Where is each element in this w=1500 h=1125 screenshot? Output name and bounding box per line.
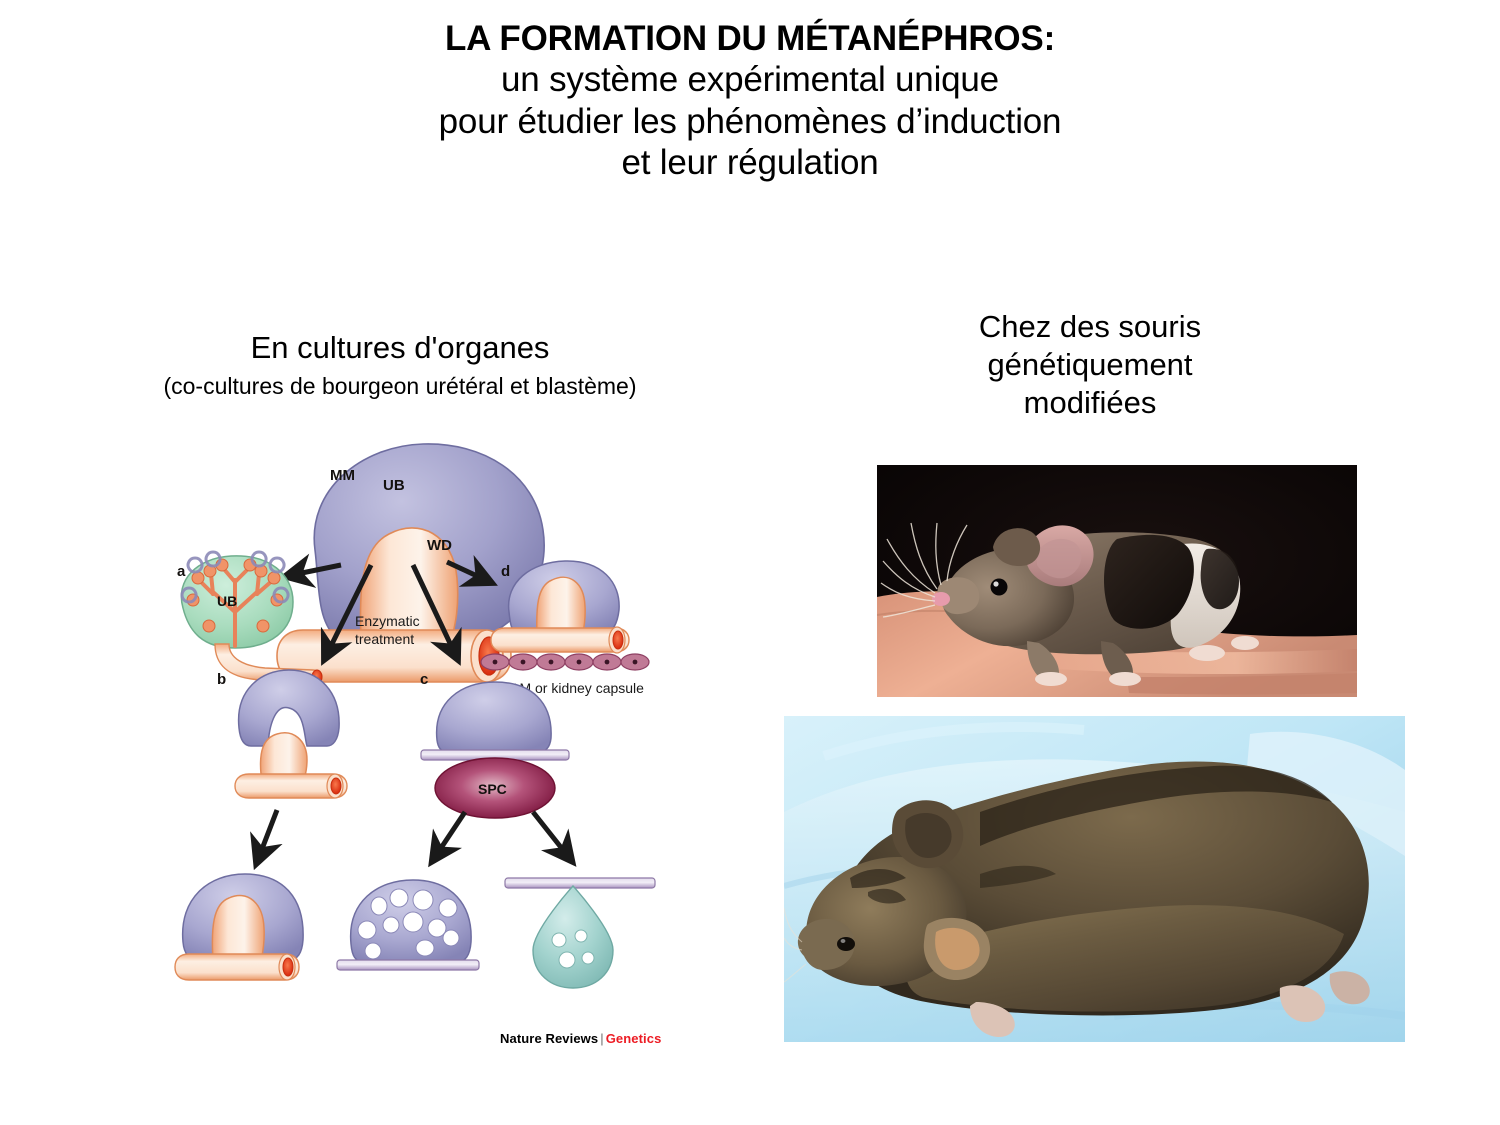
panel-b-letter: b [217, 671, 226, 688]
arrow-c-to-droplet [533, 812, 571, 860]
label-mm: MM [330, 467, 355, 484]
filter-membrane-tubules [337, 960, 479, 970]
right-heading-line-2: génétiquement [900, 346, 1280, 384]
left-heading-main: En cultures d'organes [60, 330, 740, 366]
title-line-2: un système expérimental unique [0, 59, 1500, 100]
title-main-text: LA FORMATION DU MÉTANÉPHROS [445, 19, 1044, 58]
title-line-4: et leur régulation [0, 142, 1500, 183]
right-section-heading: Chez des souris génétiquement modifiées [900, 308, 1280, 421]
diagram-panel-b: b [217, 670, 347, 798]
diagram-result-recombinant [175, 874, 303, 980]
credit-journal: Genetics [606, 1031, 662, 1046]
left-section-heading: En cultures d'organes (co-cultures de bo… [60, 330, 740, 402]
label-wd: WD [427, 537, 452, 554]
metanephros-culture-diagram: MM UB WD Enzymatic treatment a [165, 430, 677, 1062]
panel-a-letter: a [177, 563, 186, 580]
diagram-result-tubulogenesis [337, 880, 479, 970]
chimeric-mouse-photo [877, 465, 1357, 697]
credit-separator: | [598, 1031, 605, 1046]
diagram-credit: Nature Reviews|Genetics [500, 1031, 661, 1046]
title-line-1: LA FORMATION DU MÉTANÉPHROS: [0, 18, 1500, 59]
right-heading-line-3: modifiées [900, 384, 1280, 422]
arrow-b-to-result [257, 810, 277, 862]
page-title: LA FORMATION DU MÉTANÉPHROS: un système … [0, 18, 1500, 183]
credit-source: Nature Reviews [500, 1031, 598, 1046]
diagram-result-droplet [505, 878, 655, 988]
label-ub-top: UB [383, 477, 405, 494]
panel-c-letter: c [420, 671, 428, 688]
panel-d-letter: d [501, 563, 510, 580]
panel-c-label-spc: SPC [478, 781, 507, 797]
filter-membrane-droplet [505, 878, 655, 888]
arrow-label-enzymatic-line2: treatment [355, 631, 414, 647]
title-colon: : [1044, 19, 1055, 58]
title-line-3: pour étudier les phénomènes d’induction [0, 101, 1500, 142]
panel-a-label-ub: UB [217, 593, 237, 609]
right-heading-line-1: Chez des souris [900, 308, 1280, 346]
arrow-label-enzymatic-line1: Enzymatic [355, 613, 420, 629]
arrow-c-to-tubules [433, 812, 465, 860]
agouti-mouse-photo [784, 716, 1405, 1042]
diagram-arrows-bottom [257, 810, 571, 862]
left-heading-sub: (co-cultures de bourgeon urétéral et bla… [60, 372, 740, 402]
slide-canvas: LA FORMATION DU MÉTANÉPHROS: un système … [0, 0, 1500, 1125]
